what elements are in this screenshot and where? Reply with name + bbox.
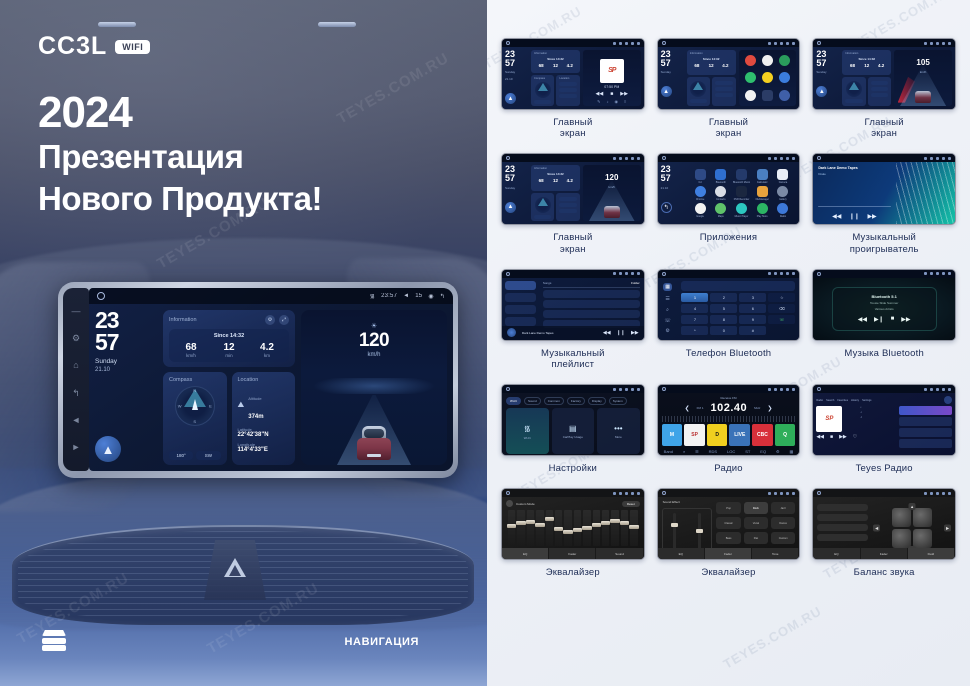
preset-4[interactable]: LIVE [729,424,750,446]
progress-bar[interactable] [818,206,890,207]
speed-unit: km/h [301,352,447,358]
gallery-item[interactable]: Receive FM ❮ FM 1 102.40 MHz ❯ M [657,384,801,474]
home-icon [662,387,666,391]
volume-down-icon[interactable]: ◄ [70,414,82,426]
call-log-icon[interactable]: ☏ [664,318,670,324]
eq-band[interactable] [527,510,534,546]
eq-band[interactable] [555,510,562,546]
wifi-icon: ᯾ [524,423,531,434]
preset-2[interactable]: SP [684,424,705,446]
track-title: Toosie Slide Summer [870,301,898,305]
radio-frequency: 102.40 [711,402,748,414]
effect-button[interactable]: Classic [716,517,740,529]
home-icon [817,387,821,391]
key-2[interactable]: 2 [710,293,737,302]
thumbnail-equalizer-2[interactable]: Sound Effect Pop Rock Jazz Classic Vocal [657,488,801,560]
volume-level: ◄ [403,293,409,299]
now-playing-bar[interactable]: Dark Lane Demo Tapes ◀◀ ❙❙ ▶▶ [502,326,644,340]
tab-history[interactable]: History [851,399,859,402]
status-time: 23:57 [381,293,397,299]
grid-icon[interactable]: ▦ [790,449,794,454]
youtube-icon [745,55,756,66]
navigation-icon: ▲ [505,202,516,213]
avatar [507,328,516,337]
favorite-icon[interactable]: ☆ [768,293,795,302]
eq-band[interactable] [611,510,618,546]
calculator-icon [757,169,768,180]
navigation-icon[interactable]: ▲ [95,436,121,462]
home-icon [662,156,666,160]
tab-field[interactable]: Field [908,548,955,559]
eq-band[interactable] [593,510,600,546]
home-icon [662,41,666,45]
stop-icon[interactable]: ■ [830,434,833,440]
clock-widget[interactable]: 23 57 Sunday 21.10 ▲ [95,310,157,465]
eq2-tabs[interactable]: EQ Fader Tone [658,548,800,559]
thumbnail-radio[interactable]: Receive FM ❮ FM 1 102.40 MHz ❯ M [657,384,801,456]
tab-eq[interactable]: EQ [813,548,860,559]
grid-icon [762,90,773,101]
home-icon [506,156,510,160]
home-icon [506,272,510,276]
compass-direction: SW [196,451,220,460]
pause-icon[interactable]: ❙❙ [849,213,859,220]
play-store-icon [745,90,756,101]
effect-button[interactable]: Vocal [744,517,768,529]
chevron-right-icon[interactable]: ❯ [767,405,772,412]
tab-factory[interactable]: Factory [567,397,585,405]
settings-icon[interactable]: ⚙ [776,449,780,454]
location-widget[interactable]: Location ⛰ Altitude 374m [232,372,296,465]
speaker-grid[interactable] [892,508,932,548]
dial-pad[interactable]: 1 2 3 ☆ 4 5 6 ⌫ 7 8 [681,293,795,335]
tab-fader[interactable]: Fader [549,548,596,559]
home-icon [817,41,821,45]
backspace-icon[interactable]: ⌫ [768,304,795,313]
home-icon [506,387,510,391]
thumbnail-bt-music[interactable]: Bluetooth 5.1 Toosie Slide Summer Variou… [812,269,956,341]
thumb-compass-card: Compass [531,75,554,106]
preset-row[interactable] [817,524,868,531]
gallery-item[interactable]: 23 57 Sunday ▲ Information Since 14:32 [657,38,801,139]
key-7[interactable]: 7 [681,315,708,324]
list-item[interactable] [505,305,536,314]
location-title: Location [238,377,259,383]
tab-system[interactable]: System [609,397,627,405]
key-4[interactable]: 4 [681,304,708,313]
visualizer [896,162,956,224]
thumbnail-music-player[interactable]: Dark Lane Demo Tapes Drake ◀◀ ❙❙ ▶▶ [812,153,956,225]
gallery-item[interactable]: Songs Folder Dark Lane Demo [501,269,645,370]
list-icon[interactable]: ☰ [695,449,699,454]
hero-year: 2024 [38,88,132,138]
expand-icon[interactable]: ⤢ [279,315,289,325]
effect-button[interactable]: Custom [771,532,795,544]
home-icon [662,272,666,276]
track-row[interactable] [543,310,640,318]
hero-title-line-1: Презентация [38,138,243,176]
trip-since: Since 14:32 [172,333,286,339]
back-icon[interactable]: ↰ [440,293,445,300]
thumb-drive-view: 120 km/h [583,165,641,221]
vent-knob-left[interactable] [98,22,136,27]
key-6[interactable]: 6 [739,304,766,313]
gallery-caption: Приложения [700,232,758,243]
gallery-caption: Музыка Bluetooth [844,348,924,359]
track-row[interactable] [543,300,640,308]
gallery-item[interactable]: Dark Lane Demo Tapes Drake ◀◀ ❙❙ ▶▶ [812,153,956,254]
information-widget[interactable]: Information ⚙ ⤢ Since 14:32 [163,310,295,367]
wifi-icon: ᯾ [370,292,375,300]
gear-icon[interactable]: ⚙ [70,333,82,345]
eq-band[interactable] [564,510,571,546]
tab-favorites[interactable]: Favorites [837,399,848,402]
gallery-caption: Главный экран [865,117,904,139]
tab-eq[interactable]: EQ [502,548,549,559]
play-store-icon [757,203,768,214]
eq-reset-button[interactable]: Reset [622,501,640,507]
altitude-value: 374m [248,414,263,420]
effect-button[interactable]: Rock [744,502,768,514]
product-logo: CC3L WIFI [38,32,150,61]
settings-tabs[interactable]: Wi-Fi Sound Common Factory Display Syste… [506,397,640,405]
key-8[interactable]: 8 [710,315,737,324]
radio-presets[interactable]: M SP D LIVE CBC Q [662,424,796,446]
key-star[interactable]: * [681,326,708,335]
arrow-left-icon[interactable]: ◀ [873,525,880,532]
tab-radio[interactable]: Radio [816,399,823,402]
tab-wifi[interactable]: Wi-Fi [506,397,521,405]
prev-icon[interactable]: ◀◀ [858,316,867,323]
eq-icon[interactable]: EQ [760,449,766,454]
list-item[interactable] [899,417,952,426]
thumbnail-home-apps[interactable]: 23 57 Sunday ▲ Information Since 14:32 [657,38,801,110]
gallery-caption: Баланс звука [854,567,915,578]
volume-up-icon[interactable]: ► [70,441,82,453]
eq-band[interactable] [602,510,609,546]
radio-toolbar[interactable]: Band ⌕ ☰ RDS LOC ST EQ ⚙ ▦ [662,449,796,454]
next-icon[interactable]: ▶▶ [631,330,639,336]
phone-nav[interactable]: ▦ ☰ ⌕ ☏ ⚙ [658,278,678,340]
gallery-caption: Главный экран [553,117,592,139]
gallery-item[interactable]: ▲ ▼ ◀ ▶ EQ Fader Field [812,488,956,578]
tab-search[interactable]: Search [826,399,834,402]
eq-band[interactable] [546,510,553,546]
eq-band[interactable] [583,510,590,546]
camera-icon [777,169,788,180]
next-icon[interactable]: ▶▶ [839,434,847,440]
compass-icon [690,81,706,97]
compass-label-e: E [209,404,212,409]
gallery-item[interactable]: Bluetooth 5.1 Toosie Slide Summer Variou… [812,269,956,370]
eq-band[interactable] [517,510,524,546]
chrome-icon [695,186,706,197]
thumbnail-equalizer[interactable]: Custom Mode Reset [501,488,645,560]
gallery-caption: Музыкальный проигрыватель [850,232,919,254]
key-5[interactable]: 5 [710,304,737,313]
gallery-item[interactable]: Radio Search Favorites History Settings … [812,384,956,474]
station-list[interactable] [899,406,952,452]
thumbnail-home-music[interactable]: 23 57 Sunday 21.10 ▲ Information Since 1… [501,38,645,110]
compass-needle [192,399,198,410]
home-icon [817,272,821,276]
head-unit-hard-keys[interactable]: — ⚙ ⌂ ↰ ◄ ► [63,288,89,471]
compass-label-n: N [193,388,196,393]
effect-button[interactable]: Flat [744,532,768,544]
gallery-item[interactable]: Custom Mode Reset [501,488,645,578]
car-illustration [357,426,391,460]
settings-card-more[interactable]: ••• More [597,408,640,454]
car-icon: ▤ [569,424,577,433]
list-item[interactable] [899,428,952,437]
gallery-caption: Радио [714,463,742,474]
contacts-icon[interactable]: ☰ [665,296,669,302]
balance-presets[interactable] [817,501,868,555]
next-icon[interactable]: ▶▶ [901,316,910,323]
eq-band[interactable] [574,510,581,546]
browser-icon [762,55,773,66]
avatar[interactable] [944,396,952,404]
cd-icon [695,169,706,180]
track-row[interactable] [543,290,640,298]
vent-knob-right[interactable] [318,22,356,27]
home-icon[interactable] [97,292,105,300]
trip-stat: 68 km/h [172,342,210,358]
album-art: SP [816,406,842,432]
effect-button[interactable]: Pop [716,502,740,514]
tab-common[interactable]: Common [544,397,564,405]
bluetooth-badge: Bluetooth 5.1 [871,294,896,299]
play-icon: ■ [610,91,613,97]
gallery-item[interactable]: 23 57 Sunday ▲ Information Since 14:32 [501,153,645,254]
gear-icon[interactable]: ⚙ [265,315,275,325]
prev-icon[interactable]: ◀◀ [832,213,841,220]
compass-heading: 180° [169,451,193,460]
music-player-icon [736,203,747,214]
arrow-right-icon[interactable]: ▶ [944,525,951,532]
home-icon [506,491,510,495]
stop-icon[interactable]: ■ [891,316,895,323]
volume-value: 15 [415,293,422,299]
thumbnail-playlist[interactable]: Songs Folder Dark Lane Demo [501,269,645,341]
key-3[interactable]: 3 [739,293,766,302]
gallery-icon [777,186,788,197]
tab-eq[interactable]: EQ [658,548,705,559]
settings-card-wifi[interactable]: ᯾ Wi-Fi [506,408,549,454]
list-item[interactable] [505,293,536,302]
home-screen: 23 57 Sunday 21.10 ▲ Information ⚙ [89,304,453,471]
list-item[interactable] [505,281,536,290]
phone-icon [745,72,756,83]
thumb-music-widget: SP 07:50 PM ◀◀ ■ ▶▶ ✎♪◉≡ [583,50,641,106]
loc-icon[interactable]: LOC [727,449,735,454]
track-artist: Various Artists [875,307,894,311]
search-icon[interactable]: ⌕ [666,307,669,313]
trip-stat: 12 min [210,342,248,358]
clock-date: 21.10 [95,367,157,373]
key-hash[interactable]: # [739,326,766,335]
st-icon[interactable]: ST [745,449,750,454]
pause-icon[interactable]: ❙❙ [617,330,625,336]
speed-value: 120 [583,173,641,182]
preset-3[interactable]: D [707,424,728,446]
google-icon [695,203,706,214]
widget-column: Information ⚙ ⤢ Since 14:32 [163,310,295,465]
preset-row[interactable] [817,534,868,541]
eq-band[interactable] [508,510,515,546]
search-icon[interactable]: ⌕ [683,449,685,454]
arrow-up-icon[interactable]: ▲ [909,503,916,510]
band-icon[interactable]: Band [664,449,673,454]
tab-tone[interactable]: Tone [752,548,799,559]
key-0[interactable]: 0 [710,326,737,335]
gallery-item[interactable]: 23 57 Sunday 21.10 ▲ Information Since 1… [501,38,645,139]
thumb-location-card: Location [556,75,579,106]
mail-icon [779,72,790,83]
tab-settings[interactable]: Settings [862,399,871,402]
album-art: SP [600,59,624,83]
logo-text: CC3L [38,32,107,61]
preset-row[interactable] [817,504,868,511]
gallery-item[interactable]: Sound Effect Pop Rock Jazz Classic Vocal [657,488,801,578]
effect-button[interactable]: Jazz [771,502,795,514]
tab-folder[interactable]: Folder [631,281,640,285]
effect-button[interactable]: Dance [771,517,795,529]
list-item[interactable] [899,439,952,448]
fader-slider[interactable] [673,513,676,551]
list-item[interactable] [899,406,952,415]
preset-6[interactable]: Q [775,424,796,446]
thumbnail-settings[interactable]: Wi-Fi Sound Common Factory Display Syste… [501,384,645,456]
mountain-icon: ⛰ [238,400,245,410]
gallery-caption: Музыкальный плейлист [541,348,605,370]
back-icon[interactable]: ↰ [70,387,82,399]
compass-icon [535,197,551,213]
preset-row[interactable] [817,514,868,521]
gallery-item[interactable]: Wi-Fi Sound Common Factory Display Syste… [501,384,645,474]
prev-icon[interactable]: ◀◀ [603,330,611,336]
music-time: 07:50 PM [583,85,641,89]
preset-1[interactable]: M [662,424,683,446]
list-item[interactable] [505,317,536,326]
sound-field-pad[interactable]: ▲ ▼ ◀ ▶ [873,501,951,555]
thumbnail-home-drive-red[interactable]: 23 57 Sunday ▲ Information Since 14:32 [812,38,956,110]
play-pause-icon[interactable]: ▶❙ [874,316,884,323]
preset-5[interactable]: CBC [752,424,773,446]
teyes-radio-tabs[interactable]: Radio Search Favorites History Settings [816,396,952,404]
chevron-left-icon[interactable]: ❮ [685,405,690,412]
dialpad-icon[interactable]: ▦ [663,283,672,291]
thumbnail-apps[interactable]: 23 57 21.10 ↰ Cd Bluetooth Bluetooth Mus… [657,153,801,225]
thumbnail-home-drive[interactable]: 23 57 Sunday ▲ Information Since 14:32 [501,153,645,225]
information-title: Information [169,317,197,323]
eq-band-sliders[interactable] [506,510,640,546]
tab-songs[interactable]: Songs [543,281,552,285]
notes-icon [762,72,773,83]
tab-sound[interactable]: Sound [524,397,541,405]
key-1[interactable]: 1 [681,293,708,302]
thumb-information-card: Information Since 14:32 68 12 4.2 [531,50,580,73]
settings-card-carplay[interactable]: ▤ CarPlay Usage [552,408,595,454]
next-icon: ▶▶ [620,91,628,97]
minus-icon[interactable]: — [70,306,82,318]
gallery-caption: Телефон Bluetooth [686,348,772,359]
gallery-item[interactable]: 23 57 Sunday ▲ Information Since 14:32 [812,38,956,139]
balance-tabs[interactable]: EQ Fader Field [813,548,955,559]
tab-display[interactable]: Display [588,397,606,405]
eq-band[interactable] [536,510,543,546]
thumbnail-teyes-radio[interactable]: Radio Search Favorites History Settings … [812,384,956,456]
gear-icon[interactable]: ⚙ [665,328,669,334]
more-icon [779,90,790,101]
road-horizon [301,378,447,394]
longitude-value: 114°4'33"E [238,447,290,453]
car-illustration [915,91,931,103]
hero-panel: — ⚙ ⌂ ↰ ◄ ► ᯾ 23:57 ◄ 15 ◉ ↰ [0,0,487,686]
bluetooth-music-icon [736,169,747,180]
fader-slider[interactable] [698,513,701,551]
track-artist: Drake [818,172,890,176]
trip-stats: Since 14:32 68 km/h 12 min [169,329,289,362]
tab-sound[interactable]: Sound [596,548,643,559]
maps-icon [715,203,726,214]
speed-value: 120 [301,330,447,352]
hazard-triangle-icon [224,558,246,577]
back-icon: ↰ [661,202,672,213]
rds-icon[interactable]: RDS [709,449,717,454]
prev-icon[interactable]: ◀◀ [816,434,824,440]
effect-button[interactable]: Bass [716,532,740,544]
head-unit-screen[interactable]: ᯾ 23:57 ◄ 15 ◉ ↰ 23 57 Sunday 21.10 ▲ [89,288,453,471]
latitude-value: 22°42'38"N [238,432,290,438]
home-icon [817,491,821,495]
gallery-item[interactable]: ▦ ☰ ⌕ ☏ ⚙ 1 2 3 [657,269,801,370]
wifi-badge: WIFI [115,40,150,54]
next-icon[interactable]: ▶▶ [867,213,876,220]
navigation-label: НАВИГАЦИЯ [345,636,419,648]
tab-fader[interactable]: Fader [705,548,752,559]
assistant-icon[interactable]: ◉ [428,293,433,300]
gallery-item[interactable]: 23 57 21.10 ↰ Cd Bluetooth Bluetooth Mus… [657,153,801,254]
key-9[interactable]: 9 [739,315,766,324]
home-icon [662,491,666,495]
frequency-scale[interactable] [662,416,796,422]
call-icon[interactable]: ☏ [768,315,795,324]
phone-number-input[interactable] [681,281,795,291]
compass-label-s: S [193,419,196,424]
eq-band[interactable] [630,510,637,546]
thumbnail-balance[interactable]: ▲ ▼ ◀ ▶ EQ Fader Field [812,488,956,560]
watermark: TEYES.COM.RU [334,50,452,128]
driving-view-widget[interactable]: ☀ 120 km/h [301,310,447,465]
eq-band[interactable] [621,510,628,546]
tab-fader[interactable]: Fader [861,548,908,559]
compass-widget[interactable]: Compass N S W E [163,372,227,465]
heart-icon[interactable]: ♡ [853,434,857,440]
more-icon: ••• [614,424,622,433]
presentation-slide: — ⚙ ⌂ ↰ ◄ ► ᯾ 23:57 ◄ 15 ◉ ↰ [0,0,970,686]
app-drawer: Cd Bluetooth Bluetooth Music Calculator … [687,165,797,221]
compass-title: Compass [169,377,192,383]
gallery-caption: Эквалайзер [701,567,755,578]
eq-tabs[interactable]: EQ Fader Sound [502,548,644,559]
eq-icon [506,500,513,507]
thumbnail-bt-phone[interactable]: ▦ ☰ ⌕ ☏ ⚙ 1 2 3 [657,269,801,341]
headlight-icon: ☀ [371,322,377,330]
dvr-icon [736,186,747,197]
home-icon[interactable]: ⌂ [70,360,82,372]
compass-label-w: W [178,404,182,409]
